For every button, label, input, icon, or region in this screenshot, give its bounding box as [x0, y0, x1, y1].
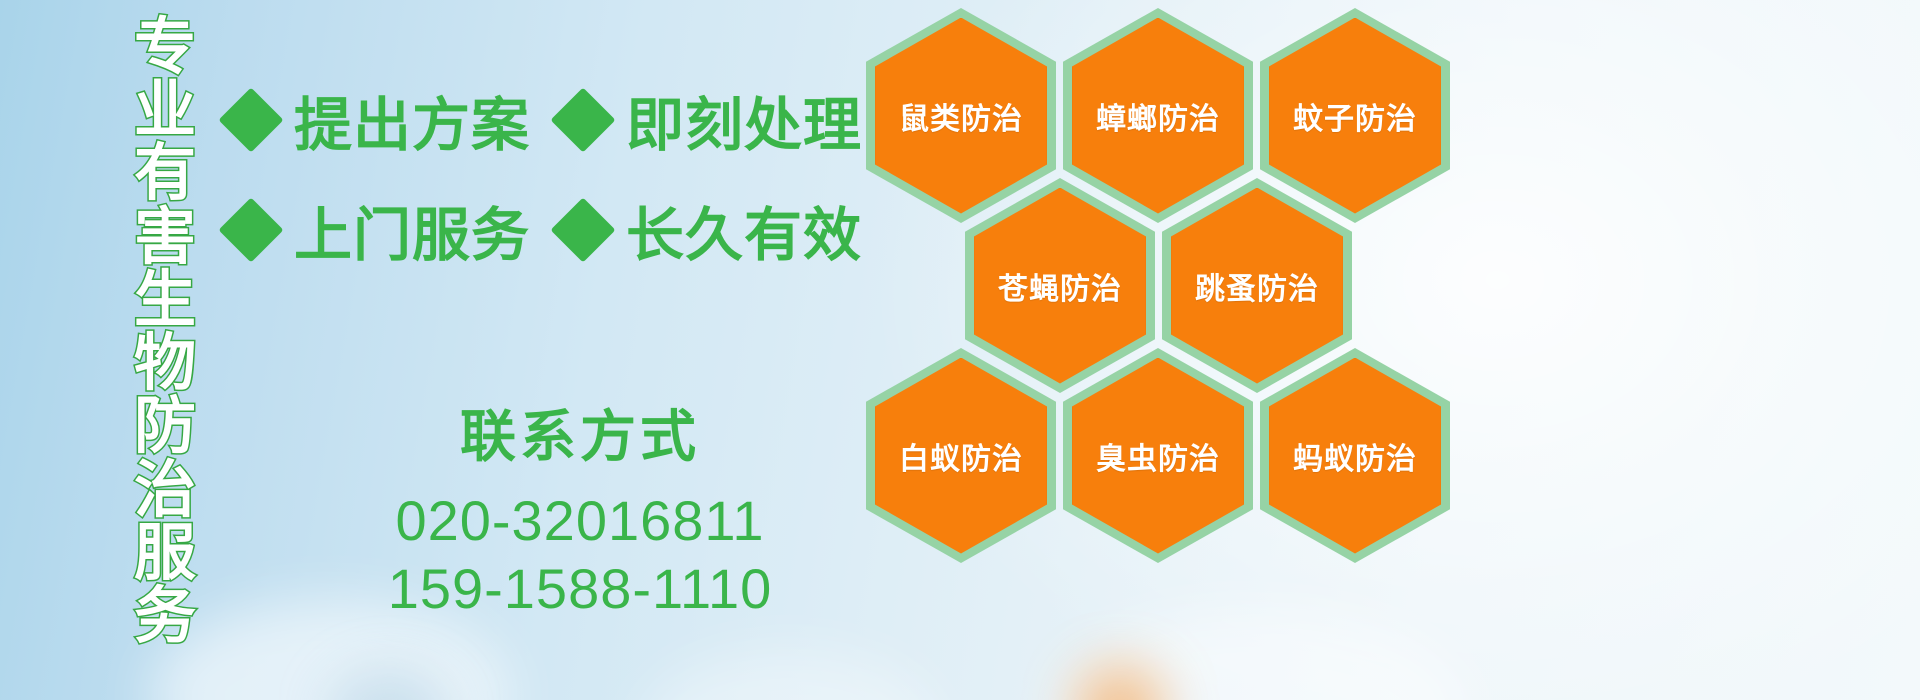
service-hex-fly[interactable]: 苍蝇防治	[965, 178, 1155, 393]
feature-row: 提出方案 即刻处理	[228, 78, 868, 162]
feature-label: 即刻处理	[626, 78, 862, 162]
service-hex-mosquito[interactable]: 蚊子防治	[1260, 8, 1450, 223]
service-hex-rodent[interactable]: 鼠类防治	[866, 8, 1056, 223]
contact-block: 联系方式 020-32016811 159-1588-1110	[300, 392, 860, 624]
service-hex-ant[interactable]: 蚂蚁防治	[1260, 348, 1450, 563]
service-hex-flea[interactable]: 跳蚤防治	[1162, 178, 1352, 393]
phone-number-mobile[interactable]: 159-1588-1110	[300, 555, 860, 623]
diamond-bullet-icon	[550, 87, 615, 152]
service-hex-cockroach[interactable]: 蟑螂防治	[1063, 8, 1253, 223]
background-blur-shape	[330, 670, 450, 700]
vertical-title-char: 防	[134, 395, 196, 458]
service-hex-inner: 臭虫防治	[1072, 358, 1244, 554]
service-hex-label: 苍蝇防治	[998, 264, 1122, 308]
service-hex-inner: 蚊子防治	[1269, 18, 1441, 214]
vertical-title-char: 务	[134, 585, 196, 648]
vertical-title-char: 有	[134, 142, 196, 205]
feature-label: 提出方案	[294, 78, 530, 162]
service-hex-label: 跳蚤防治	[1195, 264, 1319, 308]
vertical-title-char: 生	[134, 269, 196, 332]
vertical-title-char: 服	[134, 522, 196, 585]
service-hex-bedbug[interactable]: 臭虫防治	[1063, 348, 1253, 563]
service-hex-inner: 白蚁防治	[875, 358, 1047, 554]
diamond-bullet-icon	[550, 197, 615, 262]
vertical-title-char: 专	[134, 16, 196, 79]
service-hex-termite[interactable]: 白蚁防治	[866, 348, 1056, 563]
service-hex-inner: 跳蚤防治	[1171, 188, 1343, 384]
phone-number-landline[interactable]: 020-32016811	[300, 487, 860, 555]
service-hex-label: 蟑螂防治	[1096, 94, 1220, 138]
feature-label: 长久有效	[626, 188, 862, 272]
service-hex-inner: 鼠类防治	[875, 18, 1047, 214]
vertical-title-char: 治	[134, 459, 196, 522]
vertical-title-char: 物	[134, 332, 196, 395]
service-hex-grid: 鼠类防治 蟑螂防治 蚊子防治 苍蝇防治 跳蚤防治 白蚁防治	[858, 0, 1478, 700]
feature-label: 上门服务	[294, 188, 530, 272]
feature-item: 即刻处理	[560, 78, 892, 162]
service-hex-inner: 蟑螂防治	[1072, 18, 1244, 214]
feature-list: 提出方案 即刻处理 上门服务 长久有效	[228, 78, 868, 298]
feature-item: 长久有效	[560, 188, 892, 272]
contact-title: 联系方式	[300, 392, 860, 473]
promo-banner: 专 业 有 害 生 物 防 治 服 务 提出方案 即刻处理 上门服务	[0, 0, 1920, 700]
service-hex-label: 蚊子防治	[1293, 94, 1417, 138]
vertical-title-char: 业	[134, 79, 196, 142]
feature-item: 提出方案	[228, 78, 560, 162]
service-hex-inner: 苍蝇防治	[974, 188, 1146, 384]
service-hex-label: 鼠类防治	[899, 94, 1023, 138]
service-hex-label: 白蚁防治	[899, 434, 1023, 478]
diamond-bullet-icon	[218, 197, 283, 262]
service-hex-label: 臭虫防治	[1096, 434, 1220, 478]
service-hex-inner: 蚂蚁防治	[1269, 358, 1441, 554]
diamond-bullet-icon	[218, 87, 283, 152]
service-hex-label: 蚂蚁防治	[1293, 434, 1417, 478]
feature-item: 上门服务	[228, 188, 560, 272]
feature-row: 上门服务 长久有效	[228, 188, 868, 272]
vertical-title: 专 业 有 害 生 物 防 治 服 务	[122, 16, 208, 648]
vertical-title-char: 害	[134, 206, 196, 269]
